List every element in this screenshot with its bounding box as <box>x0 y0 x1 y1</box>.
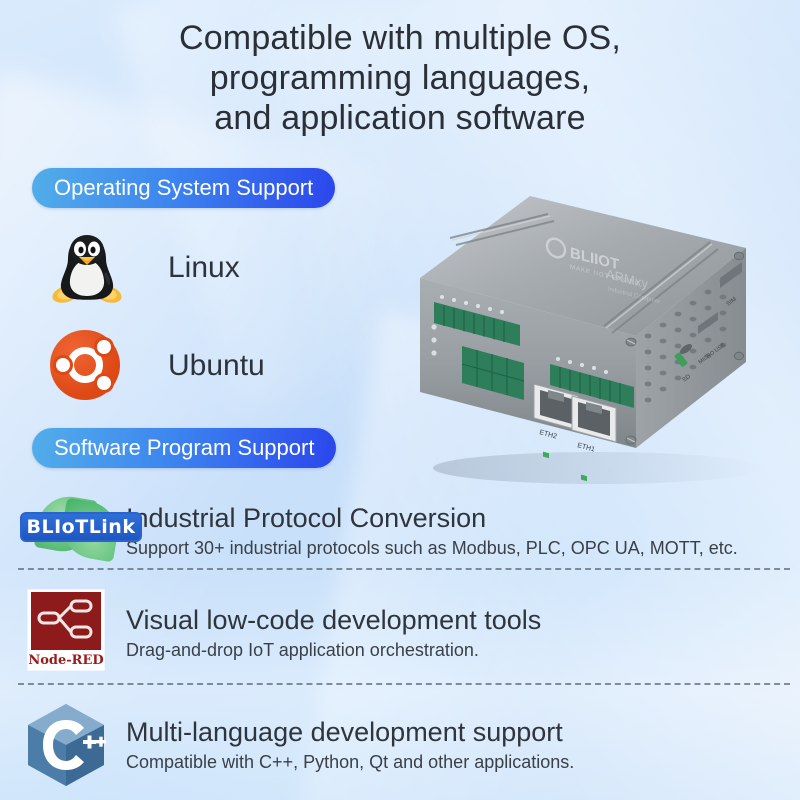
badge-operating-system-support: Operating System Support <box>32 168 335 208</box>
feature-text-block: Multi-language development support Compa… <box>126 716 574 774</box>
os-item-ubuntu: Ubuntu <box>46 326 265 406</box>
page-title-line-2: programming languages, <box>0 58 800 98</box>
section-divider <box>18 568 790 570</box>
bliotlink-logo-icon: BLIoTLink <box>18 488 114 574</box>
ubuntu-icon <box>46 326 126 406</box>
feature-row-low-code-tools: Node-RED Visual low-code development too… <box>18 590 790 676</box>
infographic-page: Compatible with multiple OS, programming… <box>0 0 800 800</box>
feature-subtitle: Compatible with C++, Python, Qt and othe… <box>126 750 574 774</box>
feature-subtitle: Support 30+ industrial protocols such as… <box>126 536 738 560</box>
page-title-line-3: and application software <box>0 98 800 138</box>
bliotlink-logo-text: BLIoTLink <box>27 516 136 538</box>
section-divider <box>18 683 790 685</box>
product-device-image: BLIIOT MAKE IIOT EASIER ARMxy Industrial… <box>398 186 788 486</box>
device-port-label-eth1: ETH1 <box>576 442 595 453</box>
badge-os-label: Operating System Support <box>54 175 313 201</box>
feature-title: Multi-language development support <box>126 716 574 748</box>
feature-row-multi-language: Multi-language development support Compa… <box>18 702 790 788</box>
feature-title: Industrial Protocol Conversion <box>126 502 738 534</box>
os-label-linux: Linux <box>168 251 240 285</box>
linux-tux-icon <box>46 228 126 308</box>
badge-software-program-support: Software Program Support <box>32 428 336 468</box>
feature-text-block: Visual low-code development tools Drag-a… <box>126 604 541 662</box>
page-title: Compatible with multiple OS, programming… <box>0 18 800 138</box>
node-red-logo-icon: Node-RED <box>18 590 114 676</box>
feature-title: Visual low-code development tools <box>126 604 541 636</box>
os-label-ubuntu: Ubuntu <box>168 349 265 383</box>
device-port-label-eth2: ETH2 <box>538 429 557 440</box>
feature-row-protocol-conversion: BLIoTLink Industrial Protocol Conversion… <box>18 488 790 574</box>
os-item-linux: Linux <box>46 228 240 308</box>
badge-software-label: Software Program Support <box>54 435 314 461</box>
feature-subtitle: Drag-and-drop IoT application orchestrat… <box>126 638 541 662</box>
cplusplus-logo-icon <box>18 702 114 788</box>
feature-text-block: Industrial Protocol Conversion Support 3… <box>126 502 738 560</box>
page-title-line-1: Compatible with multiple OS, <box>0 18 800 58</box>
node-red-logo-text: Node-RED <box>28 653 103 668</box>
